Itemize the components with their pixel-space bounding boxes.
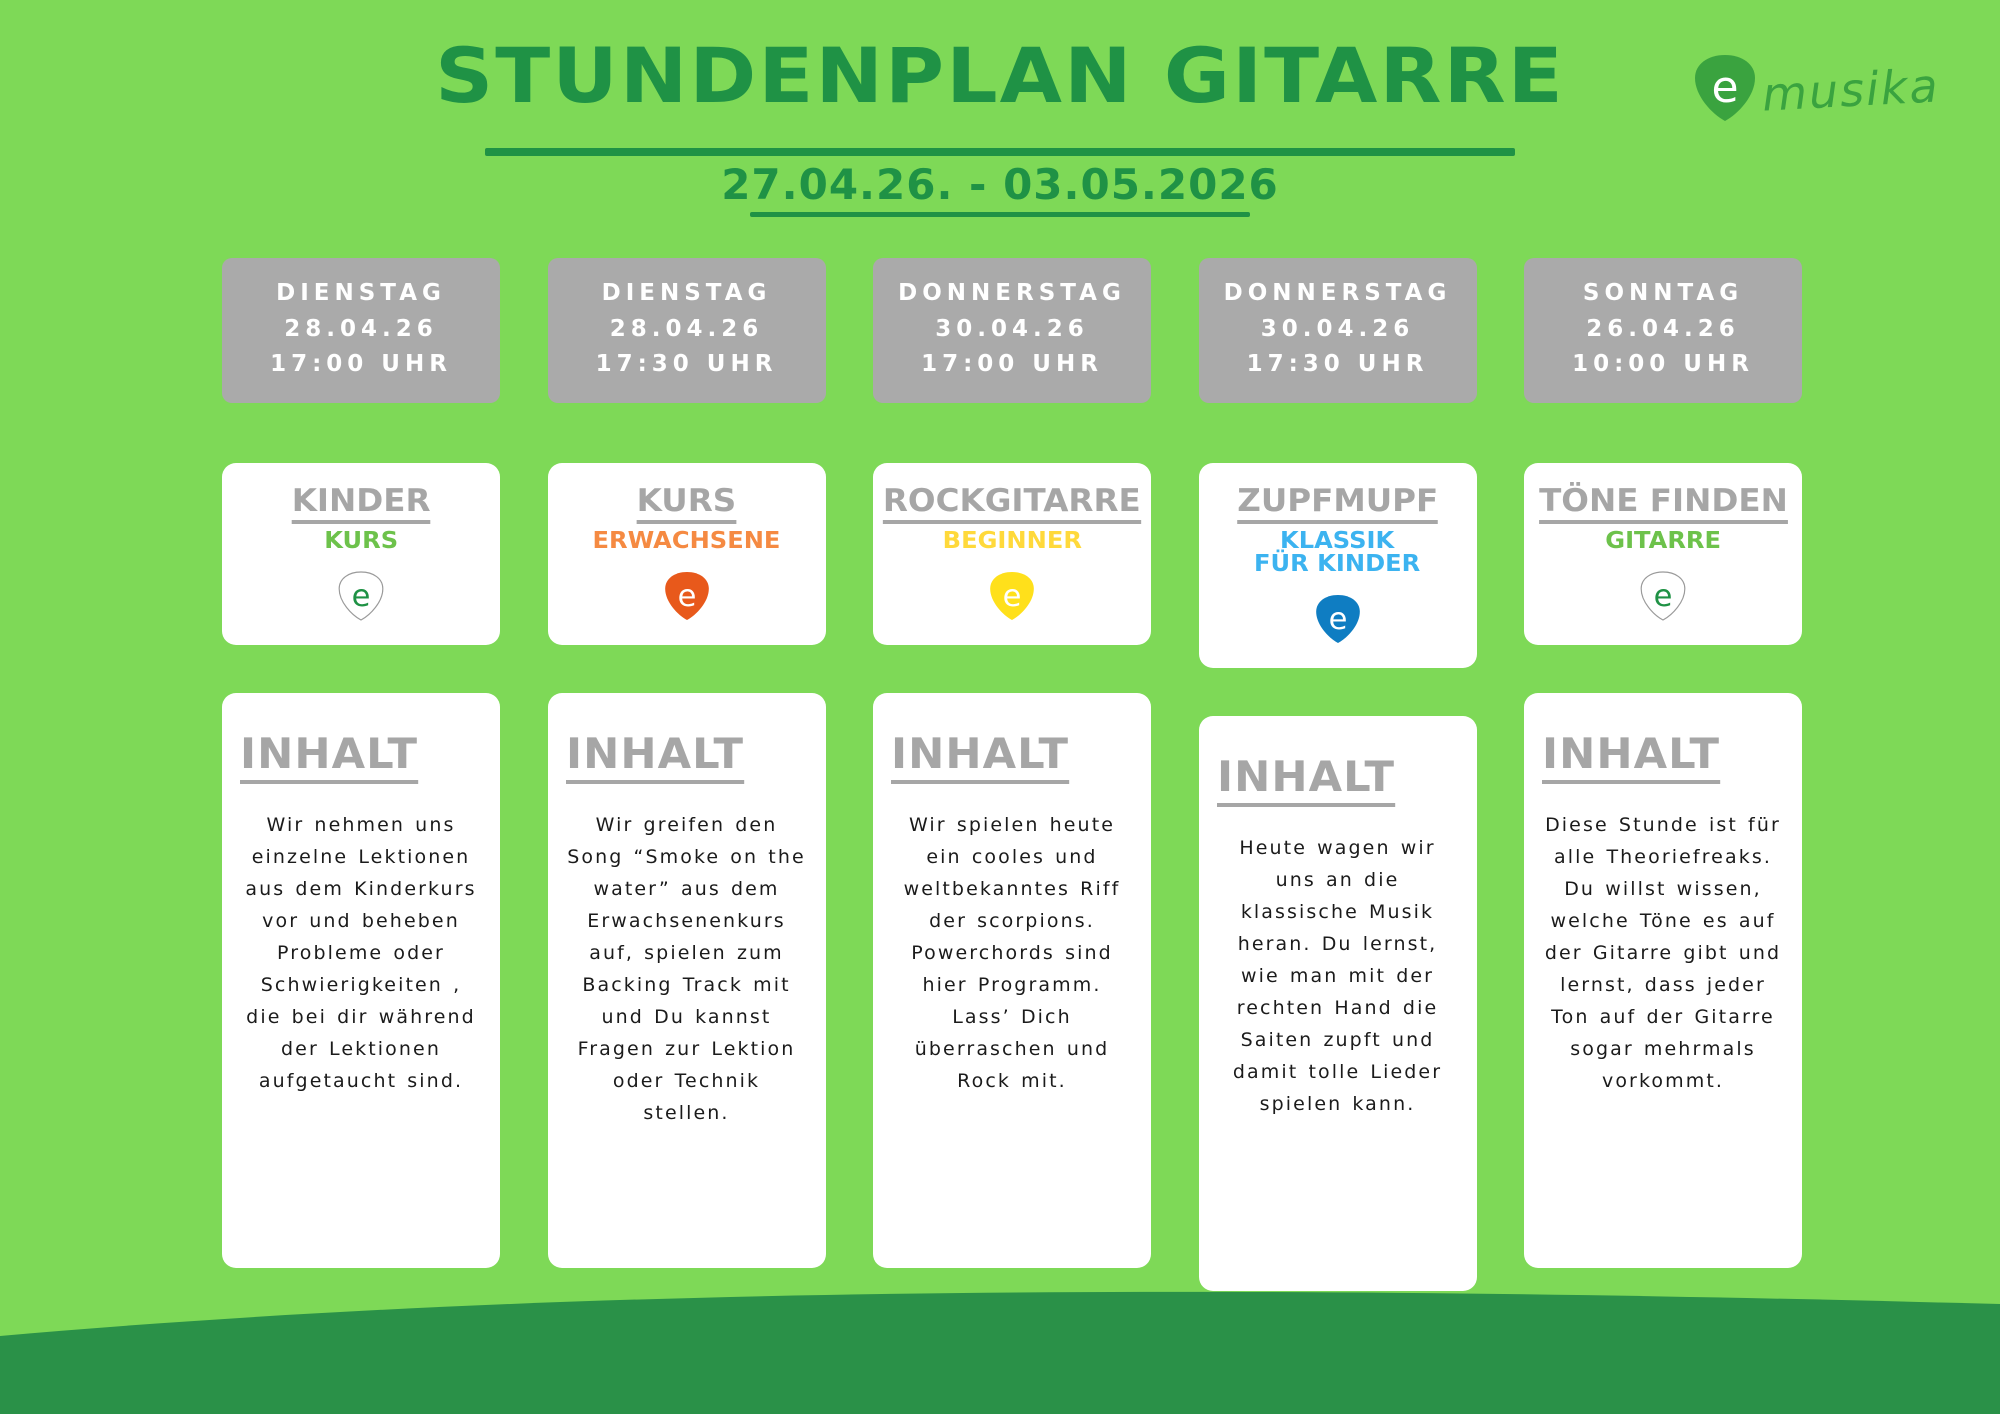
course-title: TÖNE FINDEN [1539,485,1788,525]
course-title: KINDER [292,485,431,525]
schedule-column: DIENSTAG28.04.2617:30 UHRKURSERWACHSENEe… [548,258,826,1268]
badge-date: 26.04.26 [1530,312,1796,348]
course-card[interactable]: KURSERWACHSENEe [548,463,826,646]
course-subtitle: KLASSIKFÜR KINDER [1254,530,1420,576]
content-heading: INHALT [566,729,744,784]
badge-day: SONNTAG [1530,276,1796,312]
brand-wordmark: musika [1761,58,1941,121]
title-underline [485,148,1515,156]
badge-date: 30.04.26 [1205,312,1471,348]
schedule-grid: DIENSTAG28.04.2617:00 UHRKINDERKURSeINHA… [222,258,1802,1291]
course-card[interactable]: TÖNE FINDENGITARREe [1524,463,1802,646]
schedule-column: SONNTAG26.04.2610:00 UHRTÖNE FINDENGITAR… [1524,258,1802,1268]
content-body-text: Diese Stunde ist für alle Theoriefreaks.… [1542,810,1784,1097]
course-title: KURS [637,485,737,525]
course-subtitle: BEGINNER [942,530,1081,553]
svg-text:e: e [1328,603,1347,638]
badge-day: DONNERSTAG [879,276,1145,312]
course-card[interactable]: ZUPFMUPFKLASSIKFÜR KINDERe [1199,463,1477,669]
date-time-badge: DIENSTAG28.04.2617:00 UHR [222,258,500,403]
course-title: ROCKGITARRE [883,485,1141,525]
content-heading: INHALT [1217,752,1395,807]
content-card: INHALTWir spielen heute ein cooles und w… [873,693,1151,1268]
schedule-column: DONNERSTAG30.04.2617:30 UHRZUPFMUPFKLASS… [1199,258,1477,1291]
course-subtitle: ERWACHSENE [593,530,781,553]
content-card: INHALTDiese Stunde ist für alle Theorief… [1524,693,1802,1268]
date-range-underline [750,212,1250,217]
course-pick-icon: e [337,569,385,627]
svg-text:e: e [1712,62,1739,113]
course-pick-icon: e [988,569,1036,627]
course-title: ZUPFMUPF [1237,485,1438,525]
badge-day: DIENSTAG [554,276,820,312]
svg-text:e: e [352,580,371,615]
badge-time: 17:00 UHR [879,347,1145,383]
badge-time: 17:00 UHR [228,347,494,383]
date-time-badge: DONNERSTAG30.04.2617:30 UHR [1199,258,1477,403]
date-time-badge: SONNTAG26.04.2610:00 UHR [1524,258,1802,403]
svg-text:e: e [1003,580,1022,615]
content-body-text: Wir nehmen uns einzelne Lektionen aus de… [240,810,482,1097]
date-time-badge: DONNERSTAG30.04.2617:00 UHR [873,258,1151,403]
badge-time: 17:30 UHR [1205,347,1471,383]
schedule-column: DONNERSTAG30.04.2617:00 UHRROCKGITARREBE… [873,258,1151,1268]
badge-day: DIENSTAG [228,276,494,312]
course-subtitle: GITARRE [1605,530,1721,553]
badge-time: 10:00 UHR [1530,347,1796,383]
badge-day: DONNERSTAG [1205,276,1471,312]
content-heading: INHALT [240,729,418,784]
schedule-column: DIENSTAG28.04.2617:00 UHRKINDERKURSeINHA… [222,258,500,1268]
course-pick-icon: e [1314,592,1362,650]
content-card: INHALTHeute wagen wir uns an die klassis… [1199,716,1477,1291]
footer-wave [0,1274,2000,1414]
date-time-badge: DIENSTAG28.04.2617:30 UHR [548,258,826,403]
badge-date: 28.04.26 [554,312,820,348]
svg-text:e: e [1654,580,1673,615]
brand-logo: e musika [1692,52,1940,128]
content-body-text: Wir greifen den Song “Smoke on the water… [566,810,808,1129]
content-card: INHALTWir greifen den Song “Smoke on the… [548,693,826,1268]
badge-time: 17:30 UHR [554,347,820,383]
content-body-text: Heute wagen wir uns an die klassische Mu… [1217,833,1459,1120]
brand-pick-icon: e [1692,52,1758,128]
badge-date: 28.04.26 [228,312,494,348]
content-card: INHALTWir nehmen uns einzelne Lektionen … [222,693,500,1268]
course-card[interactable]: KINDERKURSe [222,463,500,646]
course-card[interactable]: ROCKGITARREBEGINNERe [873,463,1151,646]
poster-canvas: STUNDENPLAN GITARRE 27.04.26. - 03.05.20… [0,0,2000,1414]
content-body-text: Wir spielen heute ein cooles und weltbek… [891,810,1133,1097]
badge-date: 30.04.26 [879,312,1145,348]
course-subtitle: KURS [324,530,398,553]
course-pick-icon: e [1639,569,1687,627]
course-pick-icon: e [663,569,711,627]
content-heading: INHALT [1542,729,1720,784]
date-range: 27.04.26. - 03.05.2026 [0,160,2000,209]
content-heading: INHALT [891,729,1069,784]
svg-text:e: e [677,580,696,615]
